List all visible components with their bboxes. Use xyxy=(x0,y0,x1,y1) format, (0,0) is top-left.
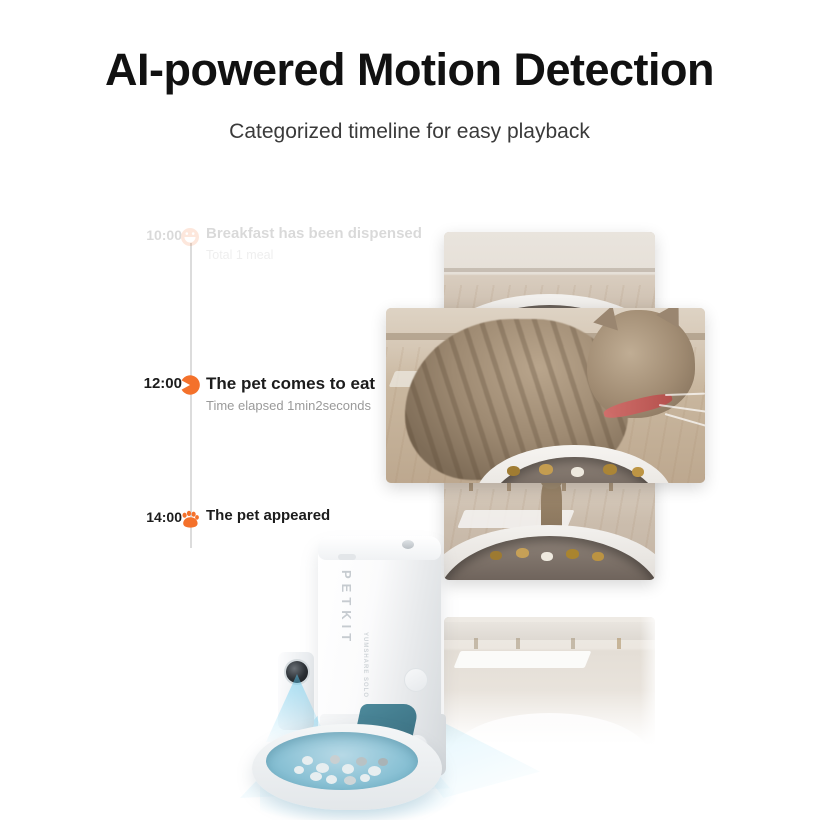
furniture-leg xyxy=(571,638,575,650)
event-subtitle: Total 1 meal xyxy=(206,247,446,264)
food-pellet xyxy=(378,758,388,766)
food-pellet xyxy=(360,774,370,782)
kibble xyxy=(539,464,553,475)
food-pellet xyxy=(310,772,322,781)
wall-line xyxy=(444,268,655,272)
kibble xyxy=(571,467,584,477)
food-hopper xyxy=(318,540,441,730)
power-button[interactable] xyxy=(404,668,428,692)
page-title: AI-powered Motion Detection xyxy=(0,45,819,95)
model-line-2: SOLO xyxy=(362,677,368,698)
kibble xyxy=(592,552,604,561)
food-pellet xyxy=(326,775,337,784)
event-time: 10:00 xyxy=(120,227,182,243)
food-pellet xyxy=(368,766,381,776)
event-title: Breakfast has been dispensed xyxy=(206,225,446,244)
food-pellet xyxy=(330,755,340,764)
food-pellet xyxy=(356,757,367,766)
page-subtitle: Categorized timeline for easy playback xyxy=(0,120,819,144)
event-time: 12:00 xyxy=(120,375,182,392)
model-line-1: YUMSHARE xyxy=(362,632,368,674)
bowl-interior xyxy=(266,732,418,790)
kibble xyxy=(603,464,617,475)
event-body: The pet appeared xyxy=(206,507,446,529)
hopper-lid xyxy=(318,536,441,560)
food-pellet xyxy=(344,776,356,785)
photo-cat-eating-main[interactable] xyxy=(386,308,705,483)
furniture-leg xyxy=(617,638,621,650)
model-label: YUMSHARE SOLO xyxy=(361,632,368,698)
food-pellet xyxy=(342,764,354,774)
brand-label: PETKIT xyxy=(339,570,354,688)
kibble xyxy=(632,467,644,477)
photo-scene xyxy=(386,308,705,483)
photo-right-fade xyxy=(640,617,666,749)
food-pellet xyxy=(302,756,313,765)
event-body: Breakfast has been dispensed Total 1 mea… xyxy=(206,225,446,264)
kibble xyxy=(541,552,553,561)
kibble xyxy=(507,466,520,476)
event-title: The pet appeared xyxy=(206,507,446,526)
lid-knob-icon xyxy=(402,540,414,549)
lid-tab xyxy=(338,554,356,560)
bowl-smile-icon xyxy=(178,225,202,249)
event-time: 14:00 xyxy=(120,509,182,525)
pet-eating-icon xyxy=(178,373,202,397)
petkit-feeder-device: PETKIT YUMSHARE SOLO xyxy=(250,528,530,820)
food-pellet xyxy=(294,766,304,774)
promo-banner: AI-powered Motion Detection Categorized … xyxy=(0,0,819,820)
paw-print-icon xyxy=(178,507,202,531)
